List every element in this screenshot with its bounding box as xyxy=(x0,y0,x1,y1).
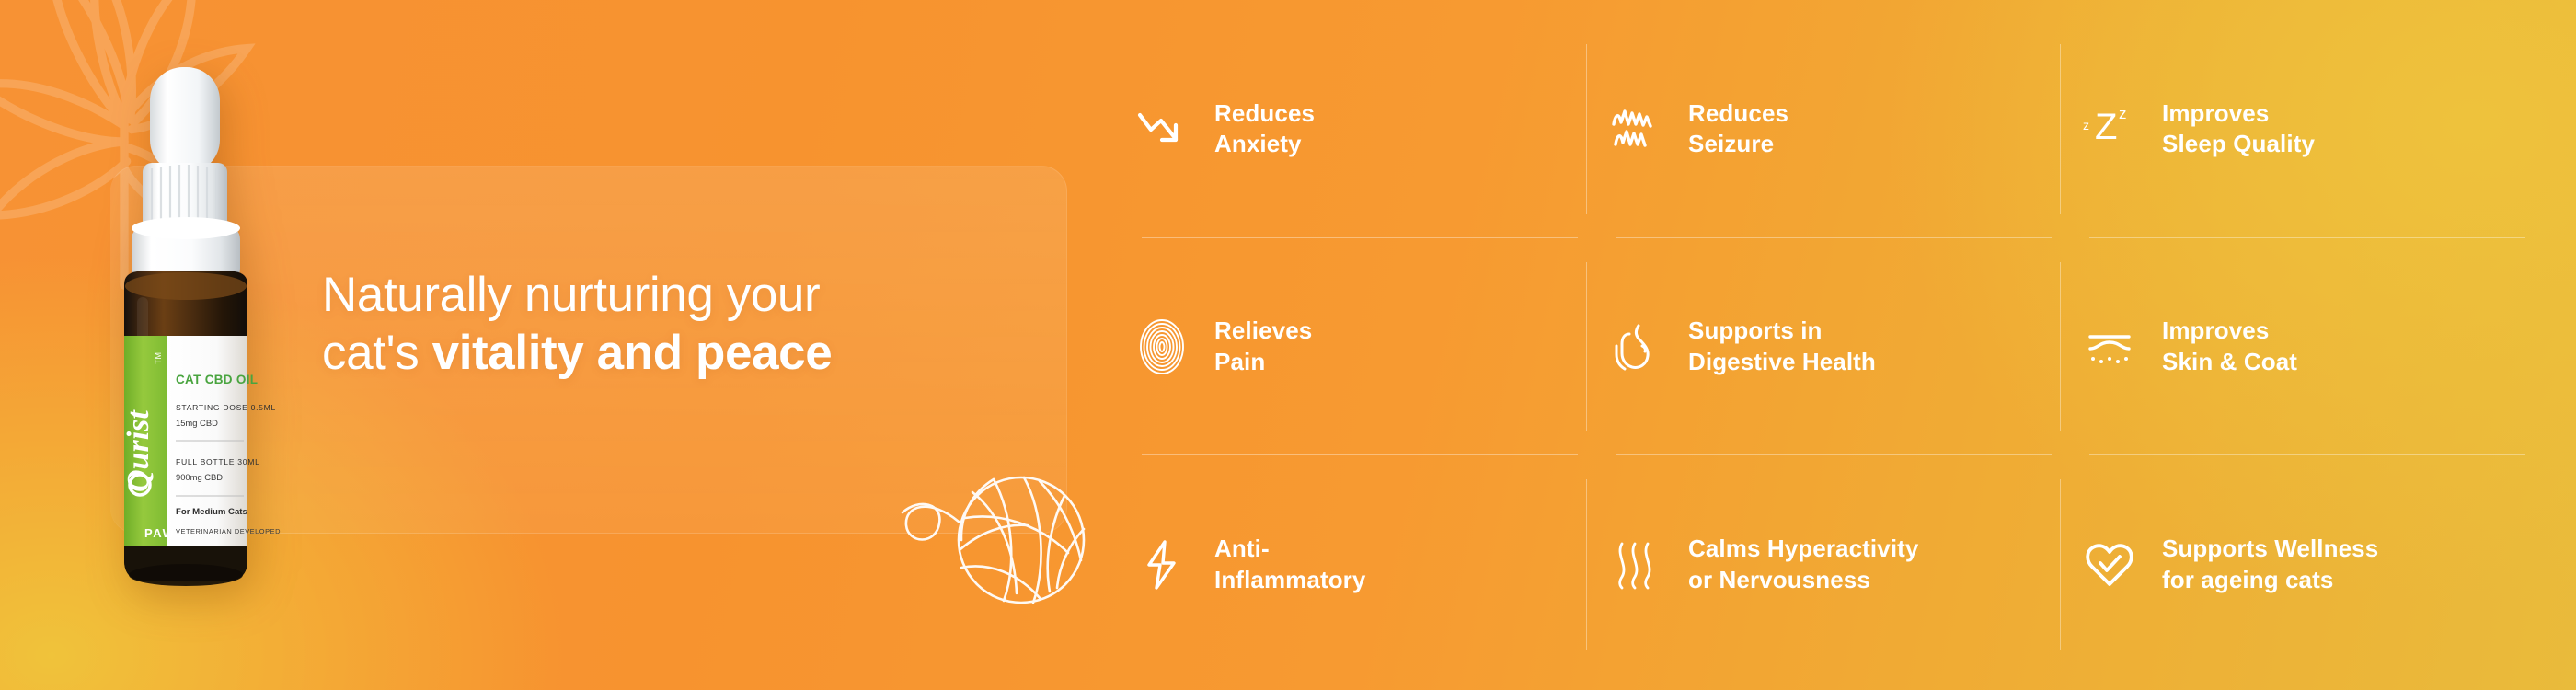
brainwave-icon xyxy=(1607,100,1664,157)
label-starting-dose-value: 15mg CBD xyxy=(176,418,218,428)
feature-label: Relieves Pain xyxy=(1214,316,1312,378)
feature-cell-reduces-seizure[interactable]: Reduces Seizure xyxy=(1587,20,2061,238)
feature-label: Reduces Anxiety xyxy=(1214,98,1315,161)
feature-label: Anti- Inflammatory xyxy=(1214,534,1365,596)
calm-waves-icon xyxy=(1607,536,1664,593)
lightning-bolt-icon xyxy=(1133,536,1190,593)
label-full-bottle-heading: FULL BOTTLE 30ML xyxy=(176,457,260,466)
headline-line-2-normal: cat's xyxy=(322,326,432,380)
label-starting-dose-heading: STARTING DOSE 0.5ML xyxy=(176,403,276,412)
stomach-icon xyxy=(1607,318,1664,375)
product-bottle-image: Qurist TM PAWS CAT CBD OIL STARTING DOSE… xyxy=(87,60,285,612)
feature-cell-calms-hyperactivity[interactable]: Calms Hyperactivity or Nervousness xyxy=(1587,455,2061,673)
benefits-grid: Reduces Anxiety Reduces Seizure Z z z Im… xyxy=(1113,20,2535,673)
label-size-line: For Medium Cats xyxy=(176,507,247,517)
heart-check-icon xyxy=(2081,536,2138,593)
feature-cell-improves-sleep-quality[interactable]: Z z z Improves Sleep Quality xyxy=(2061,20,2535,238)
pain-rings-icon xyxy=(1133,318,1190,375)
feature-label: Supports in Digestive Health xyxy=(1688,316,1876,378)
headline-line-2-emphasis: vitality and peace xyxy=(432,326,833,380)
skin-layers-icon xyxy=(2081,318,2138,375)
feature-label: Supports Wellness for ageing cats xyxy=(2162,534,2378,596)
trend-down-arrow-icon xyxy=(1133,100,1190,157)
yarn-ball-icon xyxy=(851,465,1095,616)
promo-banner: Qurist TM PAWS CAT CBD OIL STARTING DOSE… xyxy=(0,0,2576,690)
feature-cell-skin-and-coat[interactable]: Improves Skin & Coat xyxy=(2061,238,2535,456)
feature-label: Calms Hyperactivity or Nervousness xyxy=(1688,534,1918,596)
feature-cell-digestive-health[interactable]: Supports in Digestive Health xyxy=(1587,238,2061,456)
label-footer: VETERINARIAN DEVELOPED xyxy=(176,527,281,535)
feature-cell-supports-wellness[interactable]: Supports Wellness for ageing cats xyxy=(2061,455,2535,673)
trademark-mark: TM xyxy=(154,352,163,364)
feature-label: Improves Sleep Quality xyxy=(2162,98,2315,161)
feature-cell-relieves-pain[interactable]: Relieves Pain xyxy=(1113,238,1587,456)
feature-cell-anti-inflammatory[interactable]: Anti- Inflammatory xyxy=(1113,455,1587,673)
feature-label: Improves Skin & Coat xyxy=(2162,316,2297,378)
headline-line-1: Naturally nurturing your xyxy=(322,268,820,322)
sleep-zzz-icon: Z z z xyxy=(2081,100,2138,157)
label-full-bottle-value: 900mg CBD xyxy=(176,472,223,482)
label-title: CAT CBD OIL xyxy=(176,373,258,386)
feature-cell-reduces-anxiety[interactable]: Reduces Anxiety xyxy=(1113,20,1587,238)
feature-label: Reduces Seizure xyxy=(1688,98,1788,161)
page-title: Naturally nurturing your cat's vitality … xyxy=(322,267,1021,382)
